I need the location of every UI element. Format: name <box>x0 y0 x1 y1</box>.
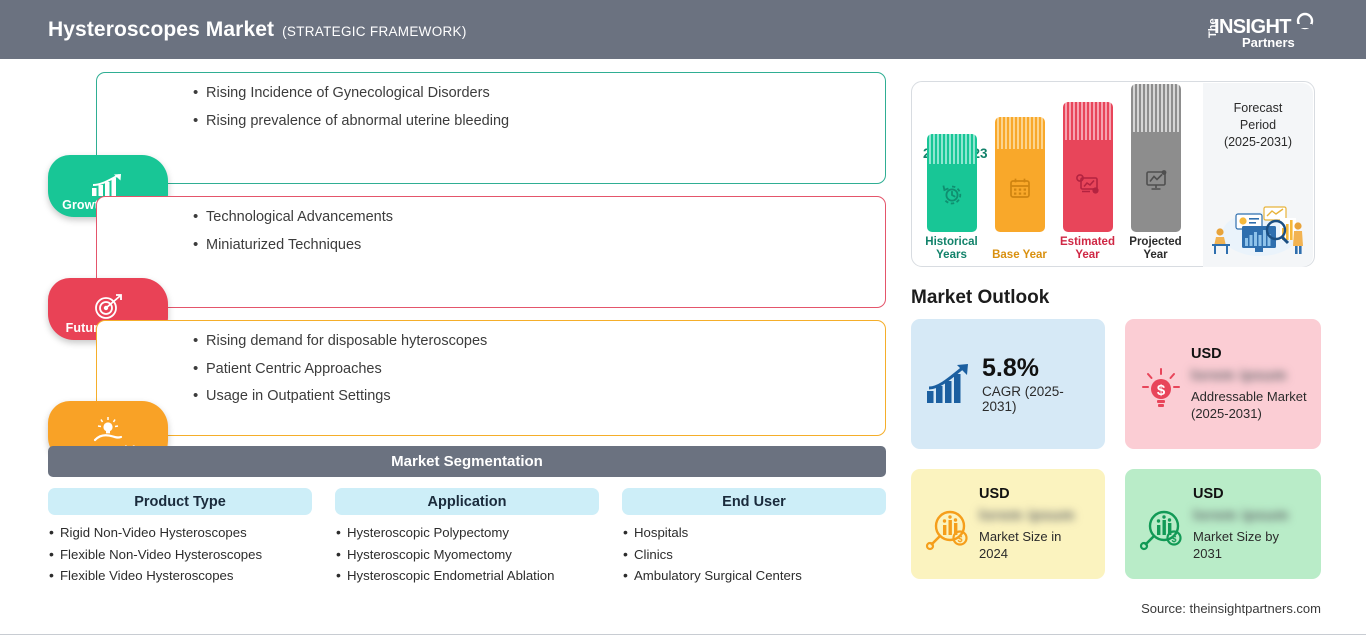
bar-stripes <box>1063 102 1113 140</box>
card-body: 5.8% CAGR (2025-2031) <box>982 355 1091 414</box>
factor-box-future-trends: Technological Advancements Miniaturized … <box>96 196 886 308</box>
magnifier-chart-dollar-icon: $ <box>1139 481 1185 567</box>
list-item: Technological Advancements <box>193 210 885 225</box>
currency-label: USD <box>1191 346 1307 362</box>
bar-name-label: Historical Years <box>917 236 986 262</box>
list-item: Flexible Non-Video Hysteroscopes <box>48 548 312 561</box>
factor-box-opportunities: Rising demand for disposable hyteroscope… <box>96 320 886 436</box>
column-header: End User <box>622 488 886 515</box>
list-item: Miniaturized Techniques <box>193 238 885 253</box>
list-item: Rigid Non-Video Hysteroscopes <box>48 526 312 539</box>
bar-shape <box>1063 102 1113 232</box>
right-column: 2021-2023 <box>900 59 1366 635</box>
infographic-page: Hysteroscopes Market(STRATEGIC FRAMEWORK… <box>0 0 1366 635</box>
column-list: Hysteroscopic Polypectomy Hysteroscopic … <box>335 526 599 583</box>
page-title: Hysteroscopes Market(STRATEGIC FRAMEWORK… <box>48 18 467 42</box>
forecast-line-3: (2025-2031) <box>1203 134 1313 151</box>
gear-chart-icon <box>1075 172 1101 201</box>
bar-shape <box>1131 84 1181 232</box>
bar-name-label: Estimated Year <box>1053 236 1122 262</box>
growth-chart-icon <box>90 171 126 197</box>
card-body: USD lorem ipsum Addressable Market (2025… <box>1191 331 1307 437</box>
forecast-line-2: Period <box>1203 117 1313 134</box>
page-title-text: Hysteroscopes Market <box>48 18 274 41</box>
list-item: Patient Centric Approaches <box>193 362 885 377</box>
page-subtitle: (STRATEGIC FRAMEWORK) <box>282 24 467 39</box>
left-column: Rising Incidence of Gynecological Disord… <box>0 59 900 635</box>
timeline-panel: 2021-2023 <box>911 81 1315 267</box>
outlook-card-addressable-market: $ USD lorem ipsum Addressable Market (20… <box>1125 319 1321 449</box>
redacted-value: lorem ipsum <box>979 507 1091 524</box>
target-dartboard-icon <box>92 294 124 320</box>
market-segmentation-title: Market Segmentation <box>391 453 543 470</box>
svg-text:Partners: Partners <box>1242 35 1295 50</box>
bar-chart-arrow-icon <box>925 363 973 405</box>
bar-stripes <box>927 134 977 164</box>
currency-label: USD <box>979 486 1091 502</box>
forecast-period-panel: Forecast Period (2025-2031) <box>1203 83 1313 267</box>
lightbulb-hand-icon <box>91 417 125 443</box>
outlook-card-cagr: 5.8% CAGR (2025-2031) <box>911 319 1105 449</box>
source-attribution: Source: theinsightpartners.com <box>1141 601 1321 616</box>
column-header: Application <box>335 488 599 515</box>
redacted-value: lorem ipsum <box>1193 507 1307 524</box>
calendar-icon <box>1008 176 1032 205</box>
list-item: Rising Incidence of Gynecological Disord… <box>193 86 885 101</box>
segmentation-column-product-type: Product Type Rigid Non-Video Hysteroscop… <box>48 488 312 591</box>
list-item: Hysteroscopic Myomectomy <box>335 548 599 561</box>
column-list: Rigid Non-Video Hysteroscopes Flexible N… <box>48 526 312 583</box>
outlook-card-market-size-2024: $ USD lorem ipsum Market Size in 2024 <box>911 469 1105 579</box>
future-trends-list: Technological Advancements Miniaturized … <box>97 197 885 252</box>
cagr-value: 5.8% <box>982 355 1091 382</box>
svg-text:$: $ <box>957 534 962 544</box>
outlook-card-market-size-2031: $ USD lorem ipsum Market Size by 2031 <box>1125 469 1321 579</box>
list-item: Hysteroscopic Polypectomy <box>335 526 599 539</box>
factor-box-growth-drivers: Rising Incidence of Gynecological Disord… <box>96 72 886 184</box>
svg-text:$: $ <box>1171 534 1176 544</box>
card-label: Market Size in 2024 <box>979 528 1091 562</box>
business-analytics-illustration <box>1206 194 1310 261</box>
bar-solid <box>995 149 1045 232</box>
card-body: USD lorem ipsum Market Size in 2024 <box>979 481 1091 567</box>
column-list: Hospitals Clinics Ambulatory Surgical Ce… <box>622 526 886 583</box>
insight-partners-logo[interactable]: The INSIGHT Partners <box>1198 6 1318 52</box>
presentation-chart-icon <box>1143 168 1169 197</box>
bar-name-label: Base Year <box>985 249 1054 262</box>
lightbulb-dollar-icon: $ <box>1139 331 1183 437</box>
list-item: Rising demand for disposable hyteroscope… <box>193 334 885 349</box>
bar-stripes <box>1131 84 1181 132</box>
bar-solid <box>927 162 977 232</box>
column-header: Product Type <box>48 488 312 515</box>
card-label: Market Size by 2031 <box>1193 528 1307 562</box>
card-body: USD lorem ipsum Market Size by 2031 <box>1193 481 1307 567</box>
list-item: Ambulatory Surgical Centers <box>622 569 886 582</box>
list-item: Flexible Video Hysteroscopes <box>48 569 312 582</box>
forecast-line-1: Forecast <box>1203 100 1313 117</box>
list-item: Hospitals <box>622 526 886 539</box>
bar-shape <box>927 134 977 232</box>
bar-name-label: Projected Year <box>1121 236 1190 262</box>
svg-text:$: $ <box>1157 382 1166 399</box>
redacted-value: lorem ipsum <box>1191 367 1307 384</box>
bar-stripes <box>995 117 1045 149</box>
card-label: Addressable Market (2025-2031) <box>1191 388 1307 422</box>
growth-drivers-list: Rising Incidence of Gynecological Disord… <box>97 73 885 128</box>
opportunities-list: Rising demand for disposable hyteroscope… <box>97 321 885 404</box>
segmentation-column-end-user: End User Hospitals Clinics Ambulatory Su… <box>622 488 886 591</box>
bar-solid <box>1131 132 1181 232</box>
timeline-bars: 2021-2023 <box>923 82 1198 268</box>
bar-shape <box>995 117 1045 232</box>
forecast-period-text: Forecast Period (2025-2031) <box>1203 83 1313 151</box>
segmentation-columns: Product Type Rigid Non-Video Hysteroscop… <box>48 488 886 591</box>
cagr-label: CAGR (2025-2031) <box>982 384 1091 414</box>
currency-label: USD <box>1193 486 1307 502</box>
list-item: Rising prevalence of abnormal uterine bl… <box>193 114 885 129</box>
list-item: Hysteroscopic Endometrial Ablation <box>335 569 599 582</box>
segmentation-column-application: Application Hysteroscopic Polypectomy Hy… <box>335 488 599 591</box>
list-item: Clinics <box>622 548 886 561</box>
page-header: Hysteroscopes Market(STRATEGIC FRAMEWORK… <box>0 0 1366 59</box>
clock-history-icon <box>940 183 964 212</box>
magnifier-chart-dollar-icon: $ <box>925 481 971 567</box>
market-segmentation-header: Market Segmentation <box>48 446 886 477</box>
bar-solid <box>1063 140 1113 232</box>
list-item: Usage in Outpatient Settings <box>193 389 885 404</box>
market-outlook-title: Market Outlook <box>911 287 1049 309</box>
